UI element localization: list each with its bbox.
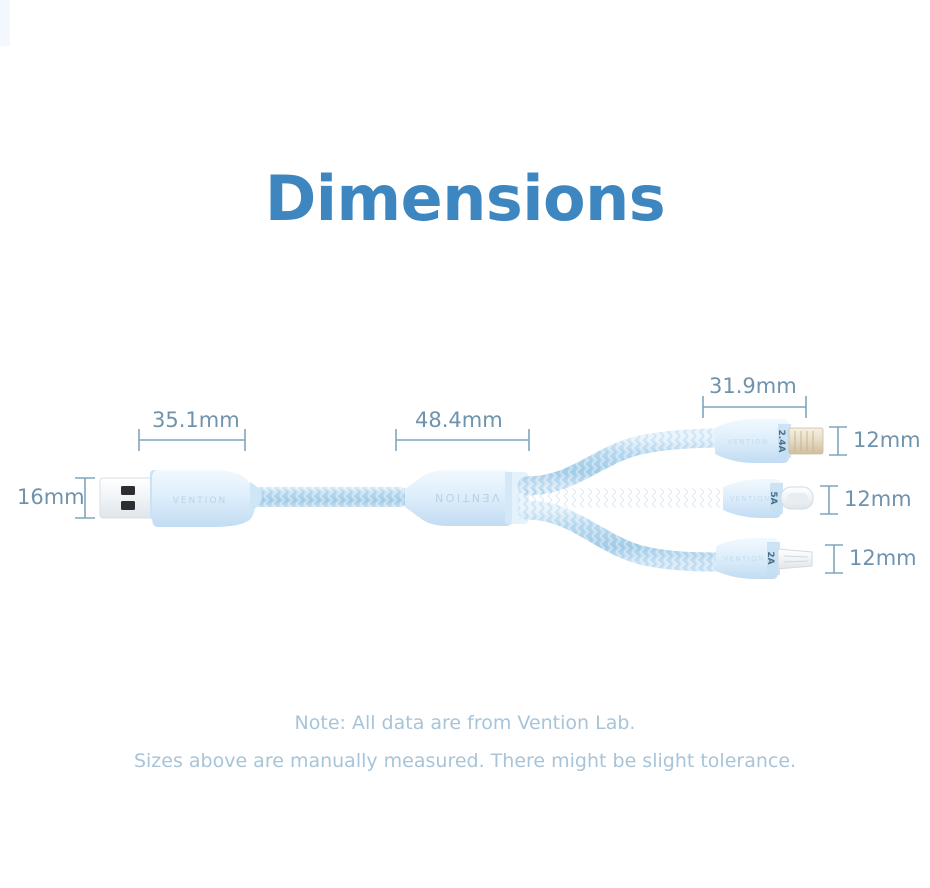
usbc-brand-text: VENTION: [729, 495, 770, 503]
dimension-label-usbc-width: 12mm: [844, 487, 912, 511]
note-line-2: Sizes above are manually measured. There…: [0, 750, 930, 772]
dimension-label-hub-length: 48.4mm: [415, 408, 503, 432]
dimension-line-usb-a-length: [139, 429, 245, 451]
infographic-canvas: Dimensions: [0, 0, 930, 888]
dimension-line-hub-length: [396, 429, 529, 451]
connector-micro-usb: 2A VENTION: [716, 538, 812, 579]
splitter-hub: VENTION: [405, 470, 529, 526]
connector-usb-c: 5A VENTION: [723, 479, 813, 518]
branch-cables: [527, 438, 730, 562]
dimension-label-micro-width: 12mm: [849, 546, 917, 570]
dimension-line-usbc-width: [820, 486, 838, 514]
dimension-label-usb-a-width: 16mm: [17, 485, 85, 509]
connector-lightning: 2.4A VENTION: [715, 419, 823, 463]
lightning-rating-text: 2.4A: [776, 430, 786, 453]
dimension-label-usb-a-length: 35.1mm: [152, 408, 240, 432]
micro-rating-text: 2A: [765, 551, 775, 564]
note-line-1: Note: All data are from Vention Lab.: [0, 712, 930, 734]
micro-brand-text: VENTION: [723, 555, 764, 563]
lightning-brand-text: VENTION: [727, 438, 768, 446]
usb-a-brand-text: VENTION: [173, 496, 228, 506]
dimension-line-micro-width: [825, 545, 843, 573]
hub-brand-text: VENTION: [432, 491, 499, 504]
dimension-label-lightning-width: 12mm: [853, 428, 921, 452]
dimension-line-lightning-width: [829, 427, 847, 455]
connector-usb-a: VENTION: [100, 470, 262, 527]
dimension-label-lightning-length: 31.9mm: [709, 374, 797, 398]
main-cable-segment: [245, 487, 410, 507]
dimension-line-lightning-length: [703, 396, 806, 418]
